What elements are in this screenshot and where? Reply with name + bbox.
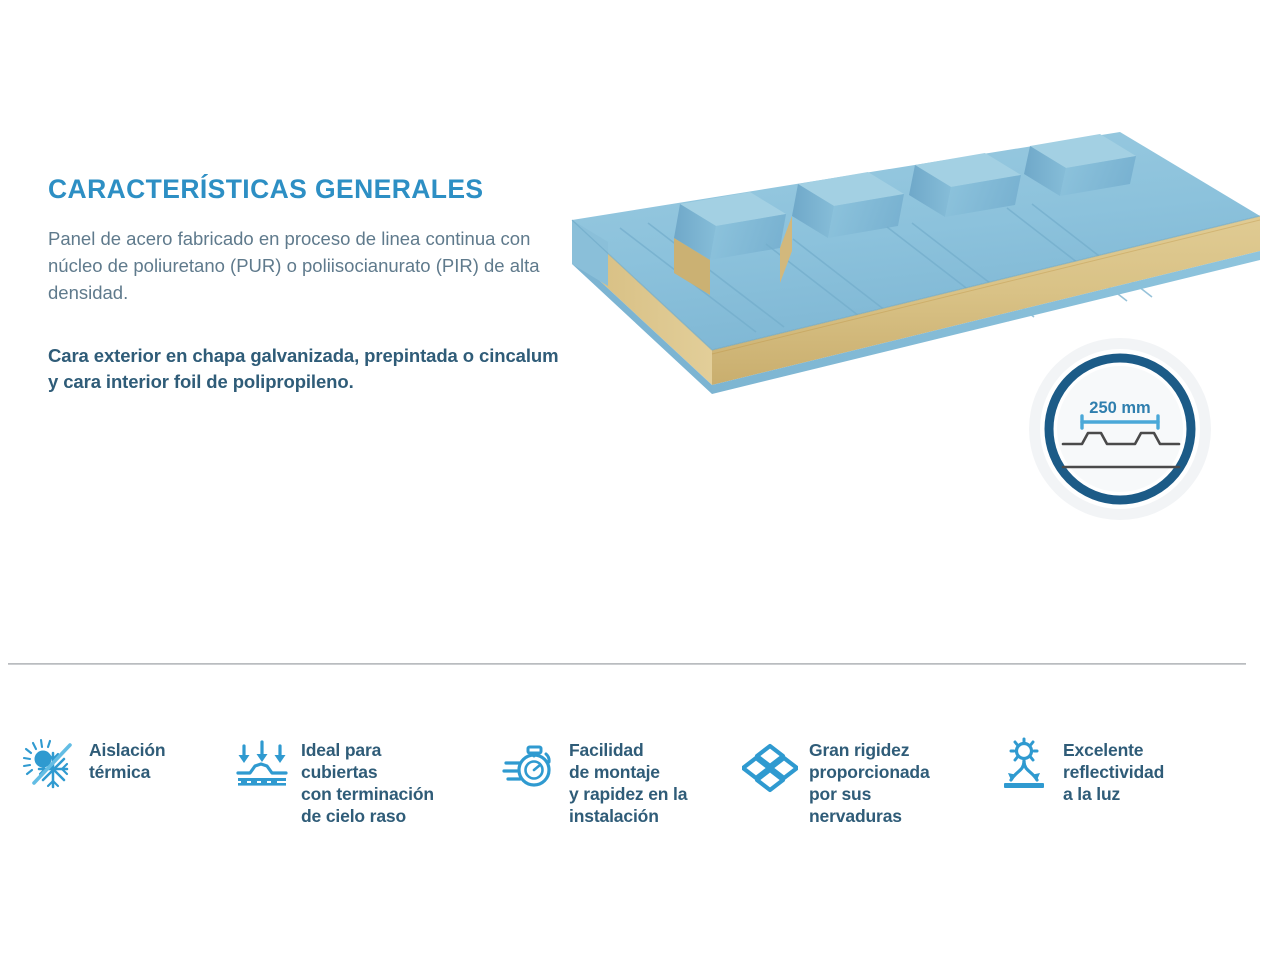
page-title: CARACTERÍSTICAS GENERALES: [48, 175, 568, 204]
description-text-block: CARACTERÍSTICAS GENERALES Panel de acero…: [48, 175, 568, 396]
feature-item-thermal-insulation[interactable]: Aislación térmica: [22, 735, 230, 793]
feature-label: Gran rigidez proporcionada por sus nerva…: [809, 735, 930, 827]
four-diamonds-rigidity-icon: [742, 737, 798, 793]
description-paragraph-secondary: Cara exterior en chapa galvanizada, prep…: [48, 343, 568, 397]
section-divider: [8, 663, 1246, 665]
feature-item-rigidity[interactable]: Gran rigidez proporcionada por sus nerva…: [742, 735, 990, 827]
feature-label: Facilidad de montaje y rapidez en la ins…: [569, 735, 687, 827]
roof-ceiling-panel-icon: [234, 737, 290, 793]
feature-item-easy-assembly[interactable]: Facilidad de montaje y rapidez en la ins…: [502, 735, 734, 827]
general-characteristics-section: CARACTERÍSTICAS GENERALES Panel de acero…: [0, 0, 1280, 656]
panel-width-badge: 250 mm: [1027, 336, 1213, 522]
feature-label: Ideal para cubiertas con terminación de …: [301, 735, 434, 827]
features-row: Aislación térmica: [0, 735, 1280, 865]
badge-dimension-label: 250 mm: [1089, 399, 1150, 417]
snowflake-sun-thermal-icon: [22, 737, 78, 793]
feature-item-light-reflectivity[interactable]: Excelente reflectividad a la luz: [996, 735, 1216, 805]
feature-label: Aislación térmica: [89, 735, 165, 783]
sun-reflection-icon: [996, 737, 1052, 793]
stopwatch-speed-icon: [502, 737, 558, 793]
feature-item-roof-ceiling[interactable]: Ideal para cubiertas con terminación de …: [234, 735, 496, 827]
feature-label: Excelente reflectividad a la luz: [1063, 735, 1164, 805]
description-paragraph-primary: Panel de acero fabricado en proceso de l…: [48, 226, 568, 306]
